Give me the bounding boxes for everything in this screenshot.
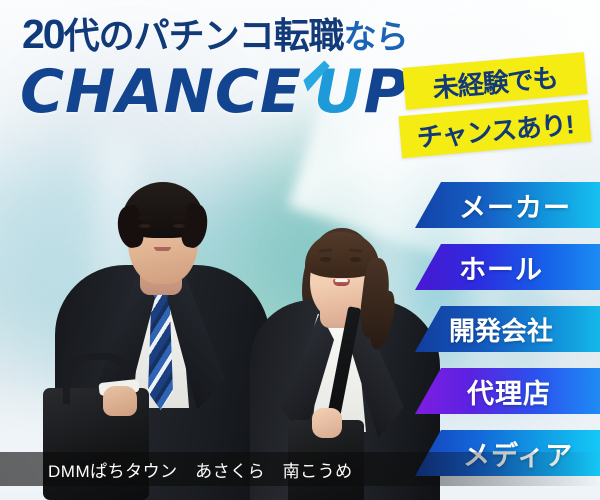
pachinko-job-ad-banner[interactable]: 20代のパチンコ転職なら CHANCEUP 未経験でも チャンスあり! メーカー… bbox=[0, 0, 600, 500]
category-label-agency: 代理店 bbox=[467, 372, 551, 411]
category-label-maker: メーカー bbox=[459, 186, 571, 225]
caption-text: DMMぱちタウン あさくら 南こうめ bbox=[48, 457, 353, 482]
category-button-hall[interactable]: ホール bbox=[415, 244, 600, 290]
category-button-maker[interactable]: メーカー bbox=[415, 182, 600, 228]
caption-bar: DMMぱちタウン あさくら 南こうめ bbox=[0, 452, 600, 486]
category-button-development-company[interactable]: 開発会社 bbox=[415, 306, 600, 352]
category-label-hall: ホール bbox=[459, 248, 543, 287]
category-list: メーカー ホール 開発会社 代理店 メディア bbox=[0, 0, 600, 500]
category-button-agency[interactable]: 代理店 bbox=[415, 368, 600, 414]
category-label-development-company: 開発会社 bbox=[449, 311, 553, 348]
